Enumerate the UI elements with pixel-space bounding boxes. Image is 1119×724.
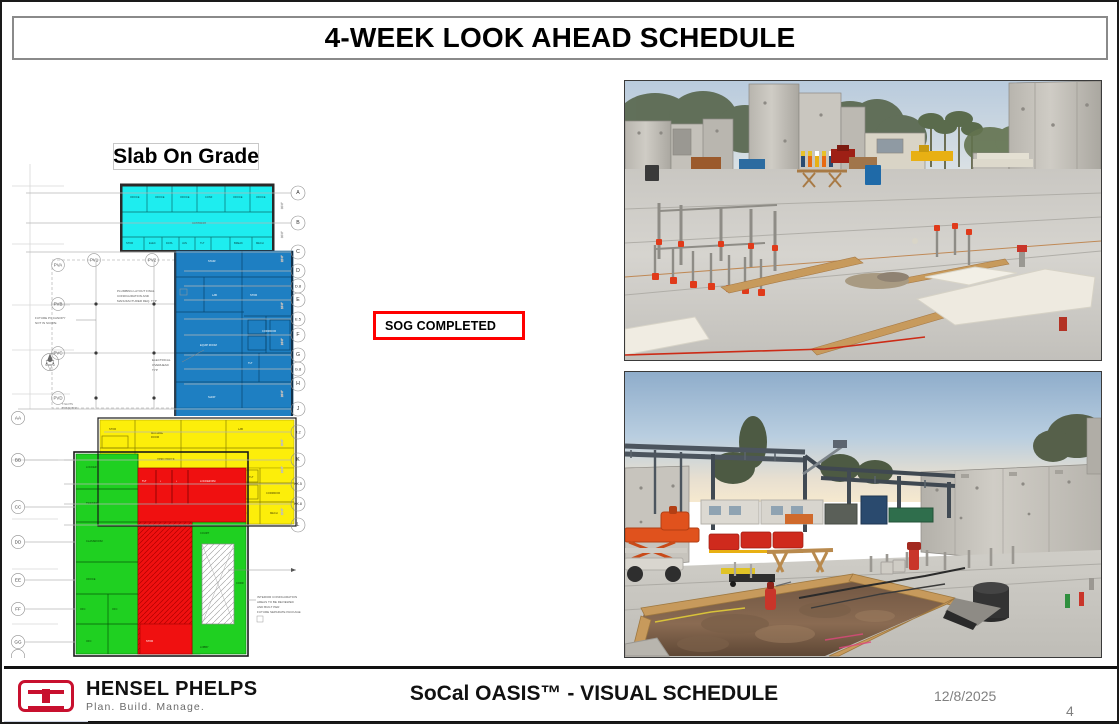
floor-plan-svg: OFFICEOFFICE OFFICECONF OFFICEOFFICE COR… — [4, 64, 604, 658]
floor-plan-drawing[interactable]: OFFICEOFFICE OFFICECONF OFFICEOFFICE COR… — [4, 64, 604, 658]
svg-text:B: B — [296, 220, 300, 226]
svg-text:DATA: DATA — [166, 241, 173, 245]
footer-page-number: 4 — [1066, 703, 1074, 719]
svg-text:OFC: OFC — [86, 639, 92, 643]
svg-text:GG: GG — [14, 640, 22, 645]
plan-caption-box: Slab On Grade — [113, 143, 259, 170]
svg-text:FUTURE PV CANOPY: FUTURE PV CANOPY — [35, 316, 66, 320]
status-badge[interactable]: SOG COMPLETED — [373, 311, 525, 340]
svg-text:NORTH: NORTH — [45, 363, 54, 367]
svg-text:CORRIDOR: CORRIDOR — [266, 491, 280, 495]
svg-text:OVERHEAD: OVERHEAD — [152, 363, 170, 367]
svg-text:CLASSROOM: CLASSROOM — [86, 539, 103, 543]
svg-text:STOR: STOR — [126, 241, 133, 245]
svg-text:MECH: MECH — [270, 511, 278, 515]
svg-text:STOR: STOR — [109, 427, 116, 431]
svg-text:•: • — [176, 480, 177, 483]
svg-text:24'-0": 24'-0" — [280, 466, 284, 473]
svg-text:LOCKER RM: LOCKER RM — [200, 479, 215, 483]
project-subtitle: SoCal OASIS™ - VISUAL SCHEDULE — [334, 682, 854, 706]
svg-text:COURT: COURT — [200, 531, 210, 535]
svg-text:OFC: OFC — [112, 607, 118, 611]
photo-slab-on-grade-pour[interactable] — [624, 80, 1102, 361]
company-tagline: Plan. Build. Manage. — [86, 701, 258, 713]
svg-text:OFFICE: OFFICE — [180, 195, 190, 199]
svg-text:G: G — [296, 352, 300, 358]
svg-text:T-SLOTS: T-SLOTS — [62, 402, 73, 406]
svg-text:PLUMBING LAYOUT FINAL: PLUMBING LAYOUT FINAL — [117, 289, 155, 293]
svg-text:G.8: G.8 — [295, 367, 302, 372]
svg-text:TLT: TLT — [142, 479, 147, 483]
svg-text:•: • — [160, 480, 161, 483]
svg-text:OFFICE: OFFICE — [155, 195, 165, 199]
svg-text:PV1: PV1 — [90, 258, 99, 263]
svg-text:MECH: MECH — [256, 241, 264, 245]
svg-text:D: D — [296, 268, 300, 274]
svg-text:CORRIDOR: CORRIDOR — [262, 329, 276, 333]
svg-text:28'-0": 28'-0" — [280, 439, 284, 446]
svg-text:EE: EE — [15, 578, 21, 583]
svg-text:JAN: JAN — [182, 241, 187, 245]
svg-text:BB: BB — [15, 458, 21, 463]
svg-text:DD: DD — [15, 540, 22, 545]
svg-text:OFFICE: OFFICE — [86, 577, 96, 581]
svg-text:30'-0": 30'-0" — [280, 202, 284, 209]
company-name: HENSEL PHELPS — [86, 679, 258, 699]
svg-text:FF: FF — [15, 607, 21, 612]
svg-text:CONF: CONF — [205, 195, 213, 199]
slide-footer: HENSEL PHELPS Plan. Build. Manage. SoCal… — [4, 666, 1119, 724]
svg-text:22'-0": 22'-0" — [280, 255, 284, 262]
svg-text:KK.5: KK.5 — [294, 482, 302, 486]
svg-text:AND BUILT PER: AND BUILT PER — [257, 605, 280, 609]
svg-text:J.2: J.2 — [295, 430, 301, 435]
photo-bottom-canvas — [625, 372, 1101, 657]
photo-top-canvas — [625, 81, 1101, 360]
svg-text:PVB: PVB — [54, 302, 63, 307]
svg-text:AREAS TO BE REVIEWED: AREAS TO BE REVIEWED — [257, 600, 295, 604]
svg-text:SHOP: SHOP — [208, 395, 216, 399]
svg-text:PVD: PVD — [53, 396, 62, 401]
svg-text:TLT: TLT — [248, 361, 253, 365]
svg-text:TLT: TLT — [200, 241, 205, 245]
svg-text:TLT: TLT — [249, 475, 254, 479]
plan-caption-text: Slab On Grade — [113, 145, 259, 169]
company-logo: HENSEL PHELPS Plan. Build. Manage. — [18, 675, 318, 717]
svg-text:OPEN OFFICE: OPEN OFFICE — [157, 457, 175, 461]
svg-text:C: C — [296, 249, 300, 255]
svg-text:MACHINE: MACHINE — [151, 431, 163, 435]
svg-text:H: H — [296, 381, 300, 387]
svg-text:OFFICE: OFFICE — [130, 195, 140, 199]
svg-text:TRAINING: TRAINING — [86, 501, 98, 505]
svg-text:INTERIOR CONFIGURATION: INTERIOR CONFIGURATION — [257, 595, 297, 599]
svg-text:LAB: LAB — [212, 293, 217, 297]
photo-steel-canopy-and-pad[interactable] — [624, 371, 1102, 658]
svg-text:FUTURE SEPARATE PACKAGE: FUTURE SEPARATE PACKAGE — [257, 610, 301, 614]
svg-text:LAB: LAB — [238, 427, 243, 431]
svg-text:E.5: E.5 — [295, 317, 302, 322]
svg-text:21'-0": 21'-0" — [280, 508, 284, 515]
svg-text:PV2: PV2 — [148, 258, 157, 263]
svg-text:ROOM: ROOM — [151, 435, 159, 439]
svg-text:30'-0": 30'-0" — [280, 231, 284, 238]
svg-text:A: A — [296, 190, 300, 196]
svg-text:TYP (3) TYP: TYP (3) TYP — [62, 406, 77, 410]
svg-text:18'-0": 18'-0" — [280, 302, 284, 309]
svg-text:26'-0": 26'-0" — [280, 390, 284, 397]
svg-text:OFC: OFC — [80, 607, 86, 611]
hensel-phelps-mark-icon — [18, 680, 74, 712]
svg-text:ELECTRICAL: ELECTRICAL — [152, 358, 171, 362]
svg-text:F: F — [296, 332, 299, 338]
svg-text:KK.8: KK.8 — [294, 502, 302, 506]
svg-text:TYP: TYP — [152, 368, 158, 372]
svg-text:STOR: STOR — [146, 639, 153, 643]
svg-text:LOBBY: LOBBY — [200, 645, 209, 649]
svg-text:L: L — [297, 522, 300, 528]
footer-date: 12/8/2025 — [934, 688, 996, 704]
svg-text:OFFICE: OFFICE — [233, 195, 243, 199]
svg-text:E: E — [296, 297, 300, 303]
page-title: 4-WEEK LOOK AHEAD SCHEDULE — [325, 22, 796, 54]
svg-text:CORR: CORR — [236, 581, 244, 585]
status-badge-label: SOG COMPLETED — [385, 319, 496, 333]
svg-text:D.8: D.8 — [295, 284, 302, 289]
svg-text:CONFIGURATION AND: CONFIGURATION AND — [117, 294, 150, 298]
svg-text:PVA: PVA — [54, 263, 63, 268]
svg-text:AA: AA — [15, 416, 22, 421]
svg-text:LOCKER: LOCKER — [86, 465, 97, 469]
svg-text:J: J — [297, 406, 300, 412]
slide-canvas: 4-WEEK LOOK AHEAD SCHEDULE — [0, 0, 1119, 724]
svg-text:NOT IN SCOPE: NOT IN SCOPE — [35, 321, 56, 325]
svg-text:STAIR: STAIR — [208, 259, 216, 263]
slide-title-box: 4-WEEK LOOK AHEAD SCHEDULE — [12, 16, 1108, 60]
svg-text:BREAK: BREAK — [234, 241, 243, 245]
svg-text:MANUFACTURER REQ. TYP: MANUFACTURER REQ. TYP — [117, 299, 157, 303]
company-logo-text: HENSEL PHELPS Plan. Build. Manage. — [86, 679, 258, 712]
svg-text:24'-0": 24'-0" — [280, 338, 284, 345]
svg-text:ELEC: ELEC — [149, 241, 156, 245]
svg-text:CC: CC — [15, 505, 22, 510]
svg-text:STOR: STOR — [250, 293, 257, 297]
svg-text:OFFICE: OFFICE — [256, 195, 266, 199]
svg-text:EQUIP ROOM: EQUIP ROOM — [200, 343, 217, 347]
svg-text:K: K — [296, 457, 300, 463]
